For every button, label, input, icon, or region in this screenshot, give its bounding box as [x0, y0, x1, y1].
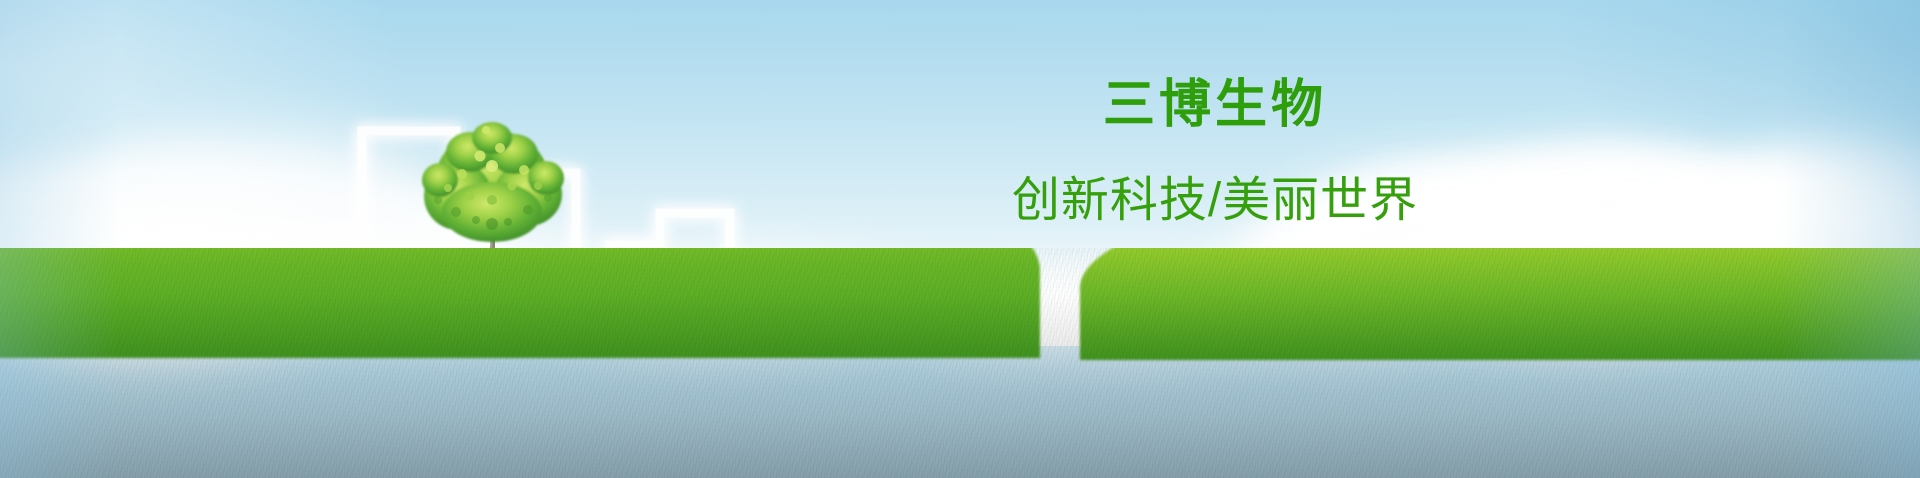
- edge-vignette-left: [0, 0, 120, 478]
- grass-field: [0, 248, 1920, 478]
- banner-text-block: 三博生物 创新科技/美丽世界: [905, 78, 1525, 227]
- brand-tagline: 创新科技/美丽世界: [905, 175, 1525, 228]
- cloud-left-wisp: [110, 118, 410, 188]
- brand-title: 三博生物: [905, 78, 1525, 133]
- edge-vignette-right: [1780, 0, 1920, 478]
- hero-banner: 三博生物 创新科技/美丽世界: [0, 0, 1920, 478]
- grass-shading: [0, 248, 1920, 478]
